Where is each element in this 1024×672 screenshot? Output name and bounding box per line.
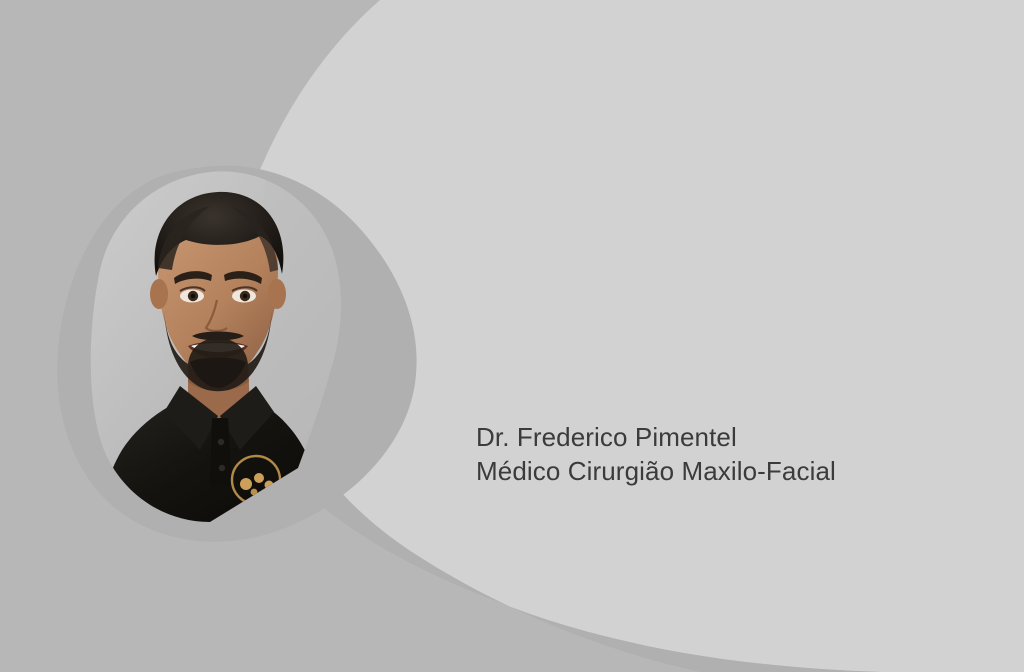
credential-block: Dr. Frederico Pimentel Médico Cirurgião …: [476, 420, 996, 488]
logo-dot-small: [251, 489, 258, 496]
portrait-clip-group: [60, 150, 390, 550]
portrait-photo: [60, 150, 390, 550]
ear-right: [268, 279, 286, 309]
logo-dot-right: [265, 481, 274, 490]
logo-dot-left: [240, 478, 252, 490]
logo-dot-center: [254, 473, 264, 483]
polo-button-top: [218, 439, 224, 445]
eye-left-pupil: [191, 294, 196, 299]
polo-button-bottom: [219, 465, 225, 471]
doctor-title: Médico Cirurgião Maxilo-Facial: [476, 454, 996, 488]
eye-right-pupil: [243, 294, 248, 299]
doctor-name: Dr. Frederico Pimentel: [476, 420, 996, 454]
ear-left: [150, 279, 168, 309]
promo-banner: Harmonização Facial: o que é, como é fei…: [0, 0, 1024, 672]
